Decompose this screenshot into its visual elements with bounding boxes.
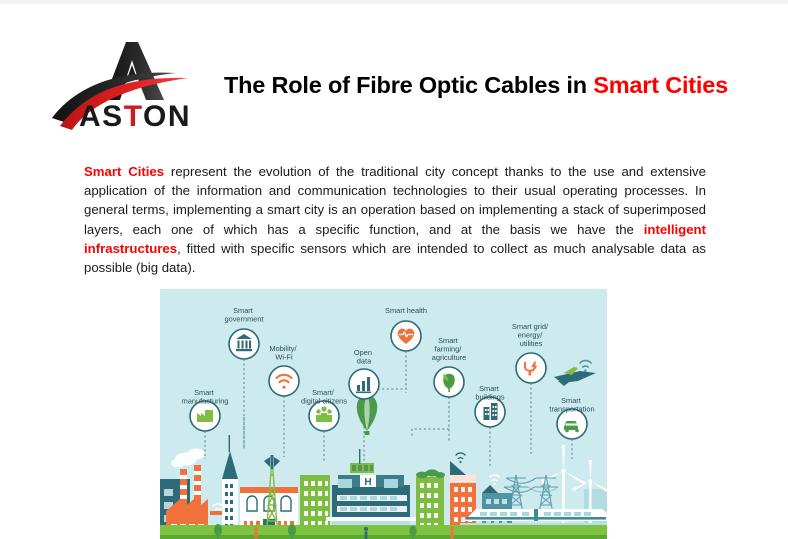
paragraph-segment-1: represent the evolution of the tradition… — [84, 164, 706, 237]
logo-letter-s: S — [102, 100, 124, 133]
node-mobility-wifi[interactable]: Mobility/ Wi-Fi — [269, 344, 299, 396]
aston-logo: ASTON — [46, 26, 196, 134]
hospital-h-marker: H — [364, 477, 371, 488]
smokestack — [194, 465, 201, 513]
antenna-base — [210, 511, 222, 515]
logo-letter-n: N — [168, 100, 191, 133]
logo-letter-t: T — [124, 100, 143, 133]
smart-city-infographic: H — [160, 289, 607, 539]
document-page: ASTON The Role of Fibre Optic Cables in … — [0, 4, 788, 535]
logo-letter-o: O — [143, 100, 168, 133]
paragraph-lead-bold: Smart Cities — [84, 164, 164, 179]
page-title-accent: Smart Cities — [593, 72, 728, 98]
high-speed-train — [464, 509, 607, 521]
page-header: ASTON The Role of Fibre Optic Cables in … — [0, 20, 788, 130]
node-label: Smart health — [385, 306, 427, 315]
page-title: The Role of Fibre Optic Cables in Smart … — [206, 72, 746, 99]
logo-letter-a: A — [79, 100, 102, 133]
page-title-main: The Role of Fibre Optic Cables in — [224, 72, 593, 98]
logo-wordmark: ASTON — [79, 100, 191, 133]
paragraph-segment-2: , fitted with specific sensors which are… — [84, 241, 706, 275]
train-track — [460, 523, 607, 525]
node-label: Open data — [354, 348, 374, 365]
node-label: Smart buildings — [475, 384, 504, 401]
intro-paragraph: Smart Cities represent the evolution of … — [84, 162, 706, 277]
node-smart-buildings[interactable]: Smart buildings — [475, 384, 505, 427]
